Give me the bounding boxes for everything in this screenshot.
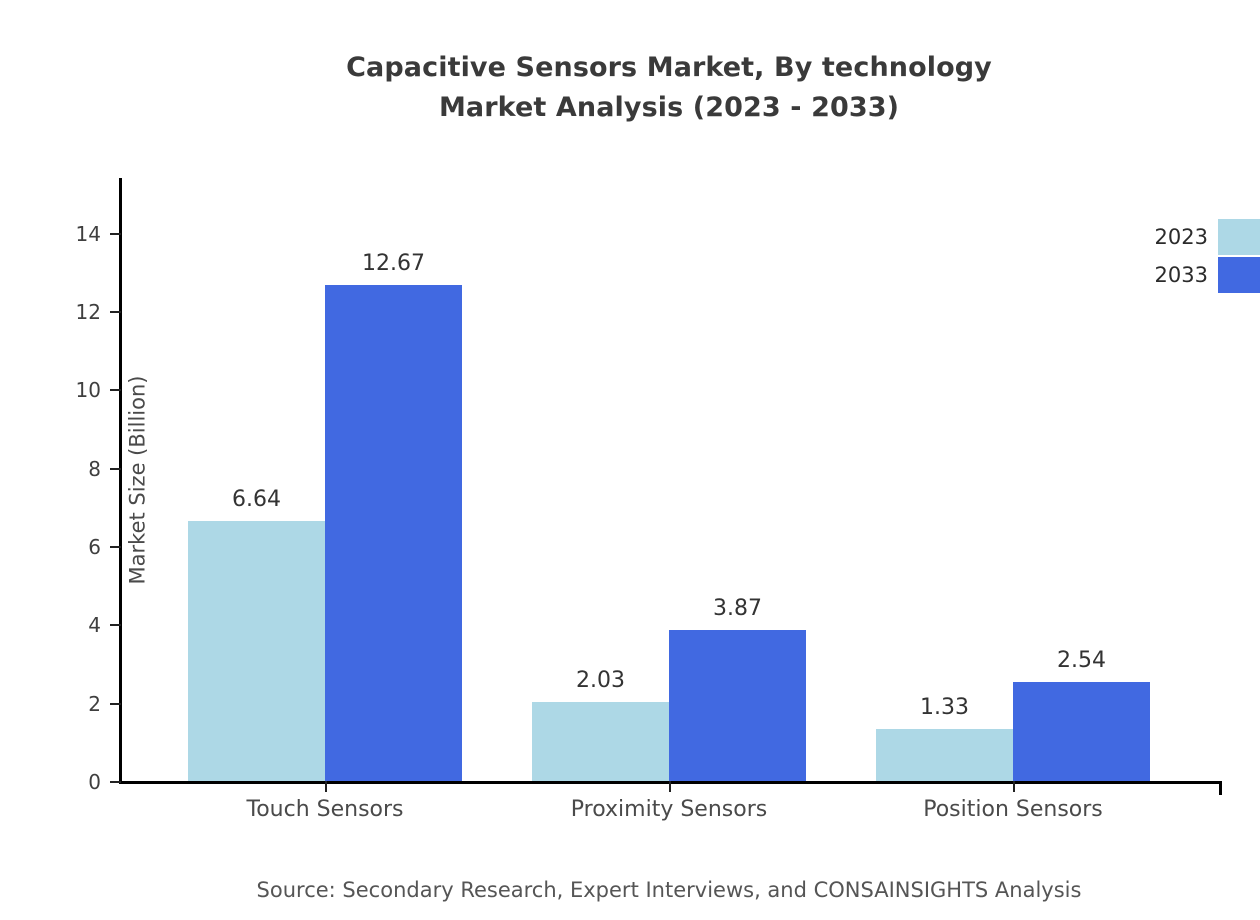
x-tick-proximity-sensors — [669, 781, 671, 792]
x-axis-endcap — [1219, 781, 1222, 795]
x-category-label-position-sensors: Position Sensors — [923, 797, 1103, 822]
bar-value-proximity-sensors-2023: 2.03 — [576, 668, 625, 693]
bar-position-sensors-2033[interactable]: 2.54 — [1013, 682, 1150, 781]
legend-swatch-2033 — [1218, 257, 1260, 293]
y-tick-2: 2 — [110, 703, 121, 705]
legend-item-2033[interactable]: 2033 — [1120, 256, 1260, 294]
bar-value-proximity-sensors-2033: 3.87 — [713, 596, 762, 621]
y-tick-10: 10 — [110, 389, 121, 391]
legend-label-2033: 2033 — [1120, 263, 1218, 287]
bar-touch-sensors-2033[interactable]: 12.67 — [325, 285, 462, 781]
x-tick-position-sensors — [1013, 781, 1015, 792]
bar-proximity-sensors-2033[interactable]: 3.87 — [669, 630, 806, 782]
chart-title-line-2: Market Analysis (2023 - 2033) — [0, 88, 1260, 128]
y-axis-spine — [119, 178, 122, 781]
y-tick-label-6: 6 — [88, 535, 101, 559]
y-tick-8: 8 — [110, 468, 121, 470]
y-tick-label-2: 2 — [88, 692, 101, 716]
legend-label-2023: 2023 — [1120, 225, 1218, 249]
x-category-label-touch-sensors: Touch Sensors — [246, 797, 403, 822]
y-tick-14: 14 — [110, 233, 121, 235]
bar-position-sensors-2023[interactable]: 1.33 — [876, 729, 1013, 781]
y-tick-12: 12 — [110, 311, 121, 313]
source-note: Source: Secondary Research, Expert Inter… — [0, 878, 1260, 902]
y-tick-label-14: 14 — [76, 222, 101, 246]
y-axis-label: Market Size (Billion) — [125, 375, 149, 584]
bar-touch-sensors-2023[interactable]: 6.64 — [188, 521, 325, 781]
y-tick-label-8: 8 — [88, 457, 101, 481]
y-tick-label-4: 4 — [88, 613, 101, 637]
y-tick-4: 4 — [110, 624, 121, 626]
bar-proximity-sensors-2023[interactable]: 2.03 — [532, 702, 669, 782]
bar-value-position-sensors-2033: 2.54 — [1057, 648, 1106, 673]
y-tick-label-0: 0 — [88, 770, 101, 794]
y-tick-label-10: 10 — [76, 378, 101, 402]
legend-swatch-2023 — [1218, 219, 1260, 255]
bar-value-position-sensors-2023: 1.33 — [920, 695, 969, 720]
plot-area: Market Size (Billion) 0 2 4 6 8 10 12 14 — [121, 178, 1222, 781]
legend-item-2023[interactable]: 2023 — [1120, 218, 1260, 256]
y-tick-0: 0 — [110, 781, 121, 783]
chart-title: Capacitive Sensors Market, By technology… — [0, 48, 1260, 128]
bar-value-touch-sensors-2033: 12.67 — [362, 251, 425, 276]
bar-value-touch-sensors-2023: 6.64 — [232, 487, 281, 512]
chart-title-line-1: Capacitive Sensors Market, By technology — [0, 48, 1260, 88]
x-category-label-proximity-sensors: Proximity Sensors — [571, 797, 767, 822]
y-tick-label-12: 12 — [76, 300, 101, 324]
chart-legend: 2023 2033 — [1120, 218, 1260, 294]
y-tick-6: 6 — [110, 546, 121, 548]
x-tick-touch-sensors — [325, 781, 327, 792]
chart-figure: Capacitive Sensors Market, By technology… — [0, 0, 1260, 920]
